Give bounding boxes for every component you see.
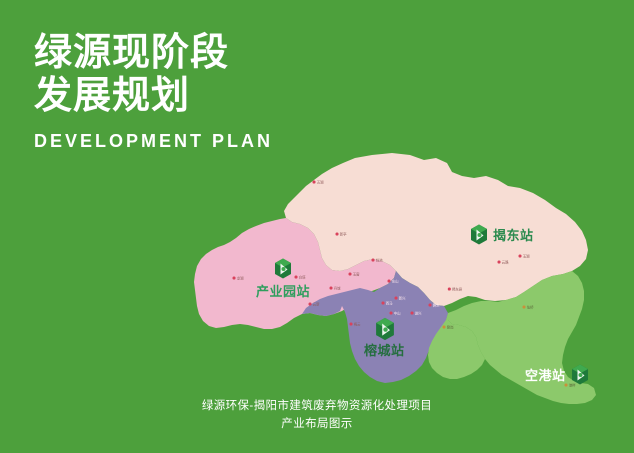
station-marker-chanyeyuan[interactable]: 产业园站: [256, 258, 310, 300]
poster-root: 五湖 新亭 钱池 云路 玉湖 揭东县 玉窖 白塔 龙湖 丹城 云新 梅云 东山 …: [0, 0, 634, 453]
station-label: 榕城站: [364, 340, 405, 359]
lvyuan-logo-icon: [571, 364, 589, 385]
map-svg: [0, 0, 634, 453]
station-label: 空港站: [525, 365, 566, 384]
map-container: [0, 0, 634, 453]
station-marker-konggang[interactable]: 空港站: [525, 364, 589, 385]
lvyuan-logo-icon: [470, 224, 488, 245]
station-marker-jiedong[interactable]: 揭东站: [470, 224, 534, 245]
lvyuan-logo-icon: [375, 317, 393, 338]
station-label: 揭东站: [493, 225, 534, 244]
station-marker-rongcheng[interactable]: 榕城站: [364, 317, 405, 359]
lvyuan-logo-icon: [274, 258, 292, 279]
station-label: 产业园站: [256, 281, 310, 300]
